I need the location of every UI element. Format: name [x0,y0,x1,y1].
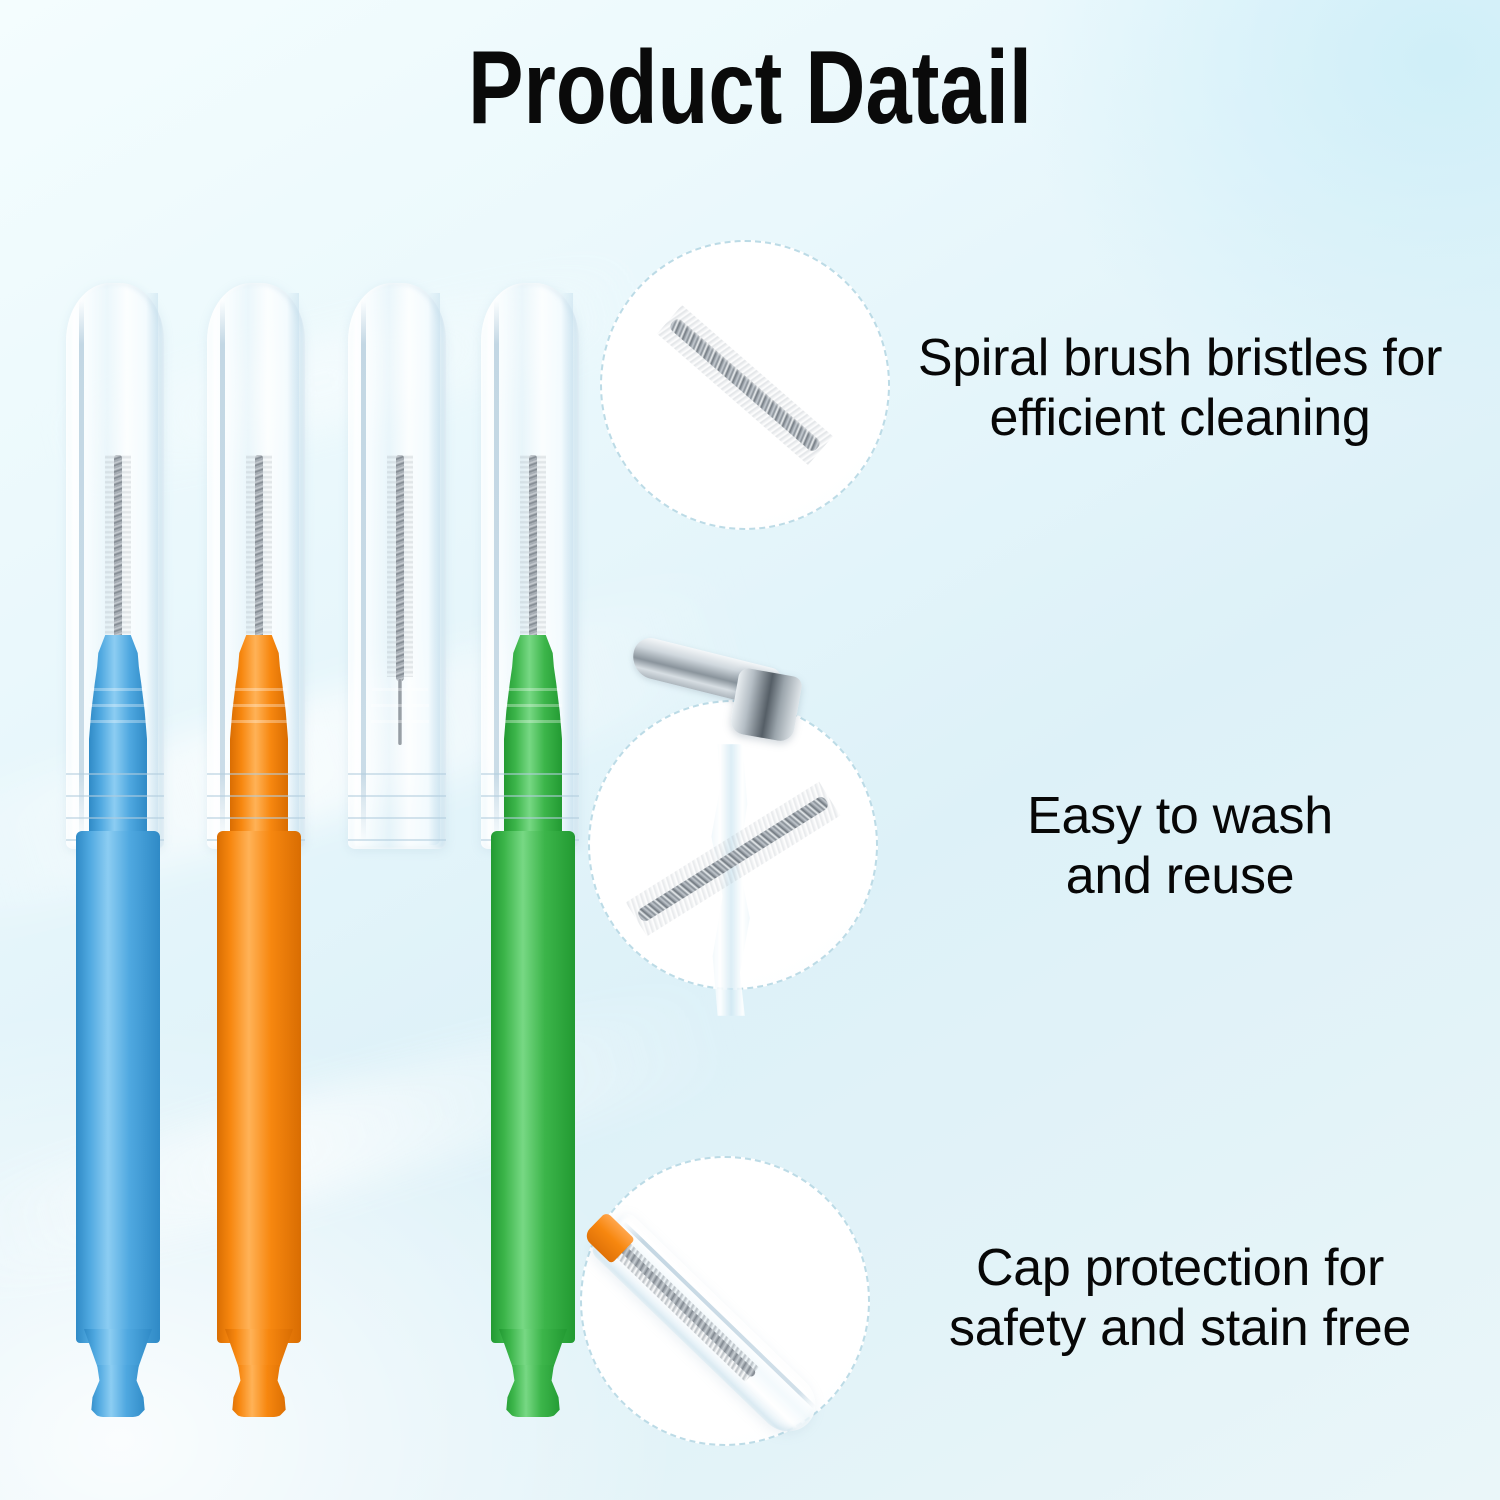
caption-line: efficient cleaning [860,388,1500,448]
cap-highlight-edge [622,1221,816,1409]
feature-image-faucet-wash [588,700,878,990]
faucet-icon [631,638,821,748]
brush-blue [48,283,188,1413]
brush-handle [491,831,575,1343]
brush-foot [230,1365,288,1417]
faucet-head [729,667,803,743]
feature-image-spiral-brush [600,240,890,530]
caption-line: Cap protection for [860,1238,1500,1298]
brush-tip-rings [371,675,429,727]
brush-orange [189,283,329,1413]
caption-line: Easy to wash [860,786,1500,846]
brush-handle [358,831,442,1343]
capped-brush-body [583,1204,842,1457]
brush-lineup-photo [0,0,620,1500]
feature-image-capped-brush [580,1156,870,1446]
feature-caption-spiral-bristles: Spiral brush bristles for efficient clea… [860,328,1500,449]
caption-line: safety and stain free [860,1298,1500,1358]
brush-tip-rings [504,675,562,727]
brush-foot [371,1365,429,1417]
brush-handle [76,831,160,1343]
brush-foot [504,1365,562,1417]
product-detail-page: Product Datail Spiral brush bristles for… [0,0,1500,1500]
caption-line: and reuse [860,846,1500,906]
brush-tip-rings [230,675,288,727]
capped-brush-icon [574,1098,904,1428]
brush-handle [217,831,301,1343]
feature-caption-easy-wash: Easy to wash and reuse [860,786,1500,907]
brush-foot [89,1365,147,1417]
brush-tip-rings [89,675,147,727]
brush-pink [330,283,470,1413]
twisted-wire-core [609,1235,757,1378]
caption-line: Spiral brush bristles for [860,328,1500,388]
feature-caption-cap-protection: Cap protection for safety and stain free [860,1238,1500,1359]
